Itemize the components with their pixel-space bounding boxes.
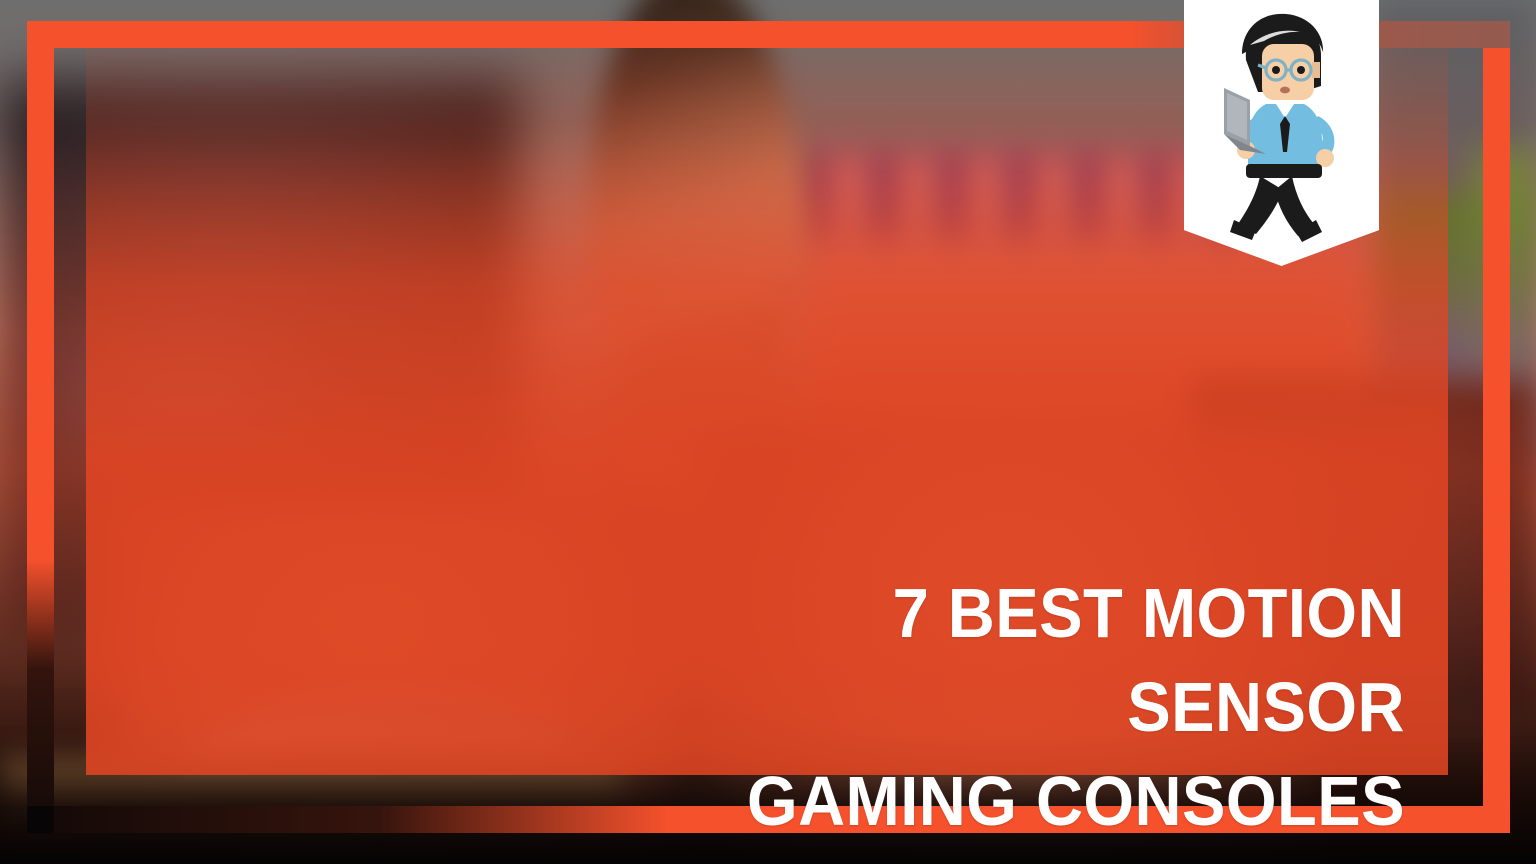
banner-image: 7 BEST MOTION SENSOR GAMING CONSOLES [0, 0, 1536, 864]
page-title: 7 BEST MOTION SENSOR GAMING CONSOLES [619, 566, 1405, 848]
logo-ribbon[interactable] [1184, 0, 1379, 266]
man-with-laptop-icon [1184, 0, 1379, 266]
